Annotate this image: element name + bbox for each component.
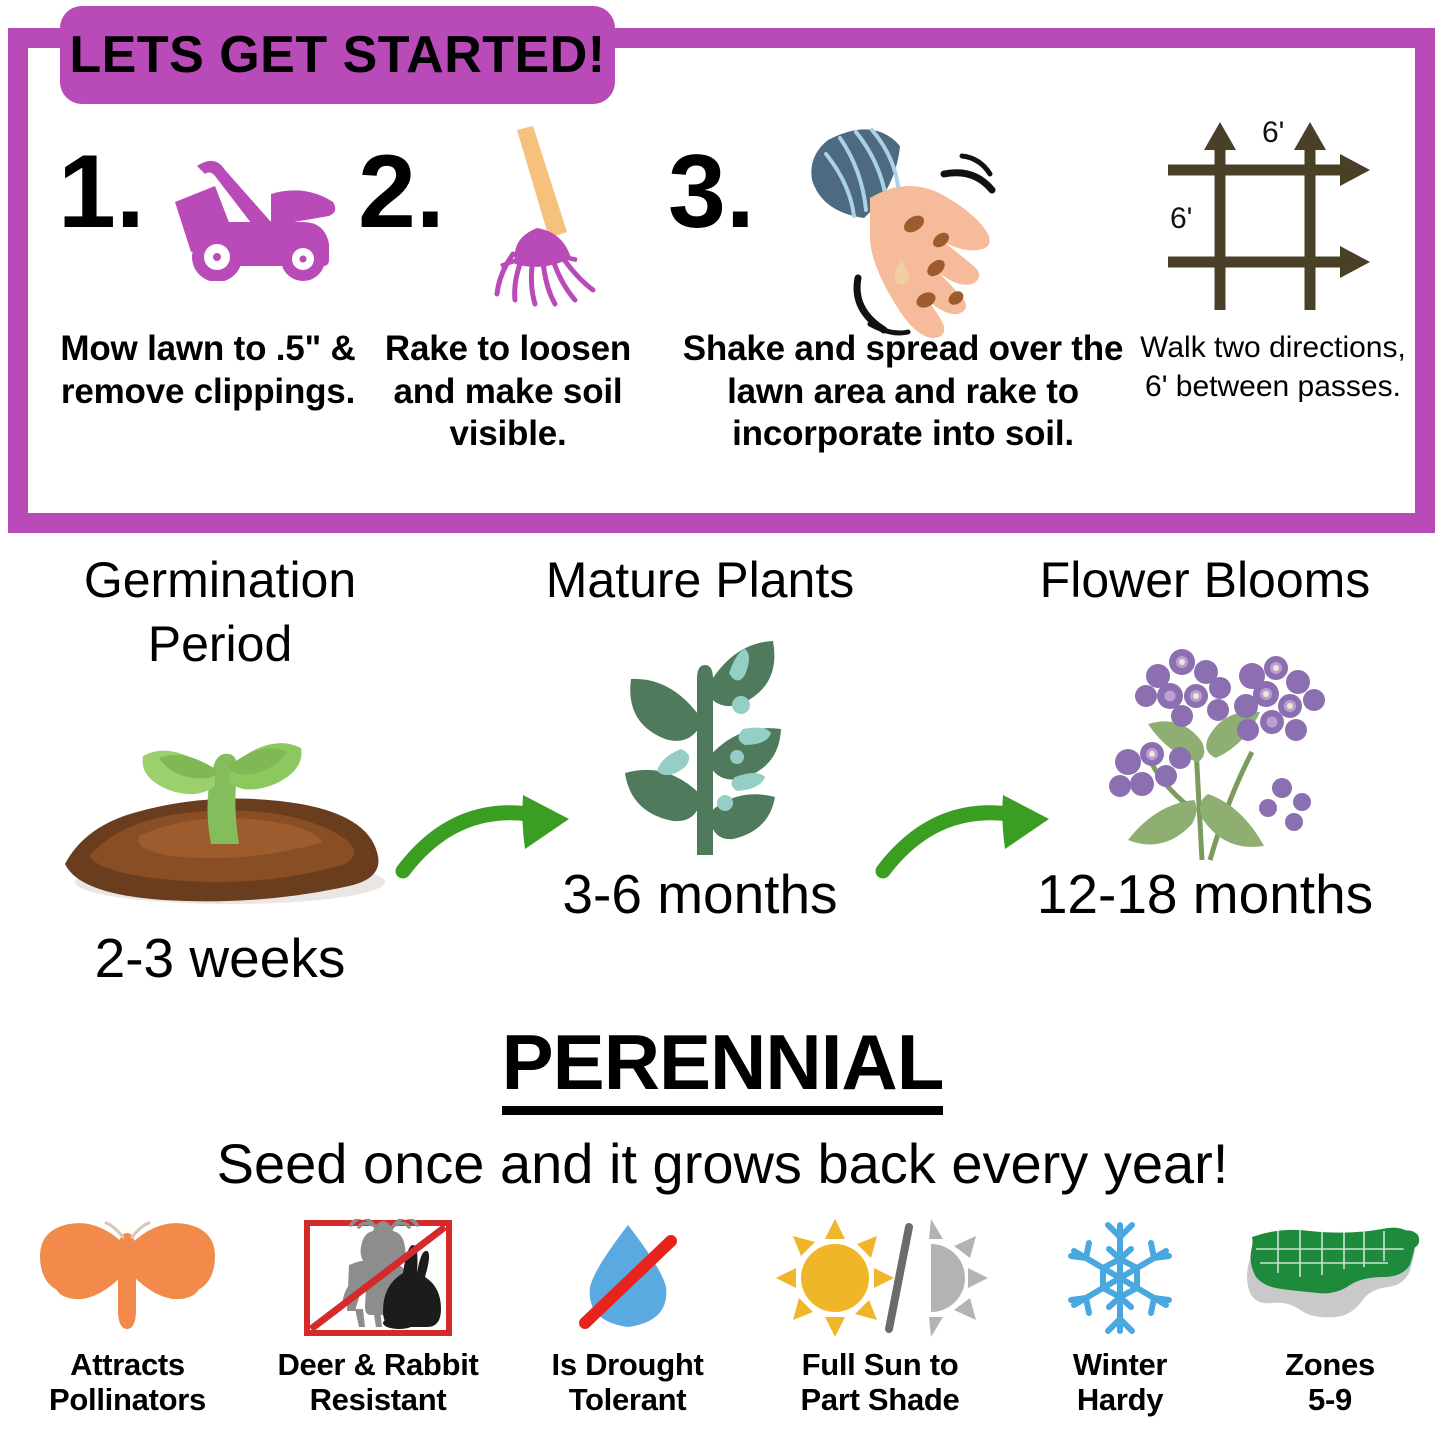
- feature-0-label: Attracts Pollinators: [10, 1347, 245, 1418]
- walk-pattern-text: Walk two directions, 6' between passes.: [1138, 328, 1408, 406]
- feature-1-label: Deer & Rabbit Resistant: [253, 1347, 503, 1418]
- stage-3-duration: 12-18 months: [975, 862, 1435, 926]
- sun-part-shade-icon: [755, 1212, 1005, 1337]
- step-3: 3.: [668, 118, 1138, 456]
- feature-3-label: Full Sun to Part Shade: [755, 1347, 1005, 1418]
- walk-pattern-block: 6' 6' Walk two directions, 6' between pa…: [1138, 110, 1408, 406]
- feature-5-label: Zones 5-9: [1230, 1347, 1430, 1418]
- feature-drought-tolerant: Is Drought Tolerant: [520, 1212, 735, 1418]
- lets-get-started-label: LETS GET STARTED!: [69, 25, 605, 85]
- leafy-plant-icon: [490, 612, 910, 862]
- timeline-stage-bloom: Flower Blooms: [975, 548, 1435, 926]
- feature-2-line1: Is Drought: [552, 1347, 704, 1382]
- no-deer-rabbit-icon: [253, 1212, 503, 1337]
- feature-3-line2: Part Shade: [801, 1382, 960, 1417]
- feature-full-sun-part-shade: Full Sun to Part Shade: [755, 1212, 1005, 1418]
- steps-row: 1.: [28, 118, 1408, 518]
- stage-2-title: Mature Plants: [490, 548, 910, 612]
- perennial-section: PERENNIAL Seed once and it grows back ev…: [0, 1022, 1445, 1194]
- walk-label-top: 6': [1262, 116, 1284, 149]
- step-3-number: 3.: [668, 140, 755, 244]
- feature-2-line2: Tolerant: [569, 1382, 687, 1417]
- lets-get-started-section: LETS GET STARTED! 1.: [0, 0, 1445, 542]
- feature-5-line1: Zones: [1285, 1347, 1375, 1382]
- butterfly-icon: [10, 1212, 245, 1337]
- stage-3-title: Flower Blooms: [975, 548, 1435, 612]
- perennial-subtitle: Seed once and it grows back every year!: [0, 1133, 1445, 1195]
- seedling-in-soil-icon: [10, 676, 430, 926]
- hand-spreading-seed-icon: [786, 102, 1056, 347]
- step-3-header: 3.: [668, 118, 1138, 328]
- step-2-number: 2.: [358, 140, 445, 244]
- feature-4-line1: Winter: [1073, 1347, 1167, 1382]
- perennial-title: PERENNIAL: [502, 1022, 944, 1115]
- usa-map-zones-icon: [1230, 1212, 1430, 1337]
- step-3-caption: Shake and spread over the lawn area and …: [668, 328, 1138, 456]
- feature-4-line2: Hardy: [1077, 1382, 1163, 1417]
- walk-label-left: 6': [1170, 202, 1192, 235]
- step-1: 1.: [58, 118, 358, 413]
- feature-4-label: Winter Hardy: [1020, 1347, 1220, 1418]
- step-2: 2.: [358, 118, 658, 456]
- feature-icons-row: Attracts Pollinators: [0, 1212, 1445, 1445]
- feature-attracts-pollinators: Attracts Pollinators: [10, 1212, 245, 1418]
- feature-0-line1: Attracts: [70, 1347, 185, 1382]
- stage-1-title: Germination Period: [10, 548, 430, 676]
- step-1-number: 1.: [58, 140, 145, 244]
- feature-winter-hardy: Winter Hardy: [1020, 1212, 1220, 1418]
- rake-icon: [463, 124, 603, 329]
- no-water-drop-icon: [520, 1212, 735, 1337]
- feature-zones: Zones 5-9: [1230, 1212, 1430, 1418]
- timeline-stage-germination: Germination Period 2-3 weeks: [10, 548, 430, 990]
- feature-2-label: Is Drought Tolerant: [520, 1347, 735, 1418]
- stage-2-duration: 3-6 months: [490, 862, 910, 926]
- timeline-stage-mature: Mature Plants: [490, 548, 910, 926]
- lets-get-started-badge: LETS GET STARTED!: [60, 6, 615, 104]
- purple-alyssum-flowers-icon: [975, 612, 1435, 862]
- feature-3-line1: Full Sun to: [802, 1347, 959, 1382]
- feature-1-line2: Resistant: [310, 1382, 447, 1417]
- lawn-mower-icon: [153, 156, 338, 286]
- snowflake-icon: [1020, 1212, 1220, 1337]
- stage-1-duration: 2-3 weeks: [10, 926, 430, 990]
- feature-0-line2: Pollinators: [49, 1382, 206, 1417]
- step-2-header: 2.: [358, 118, 658, 328]
- step-1-header: 1.: [58, 118, 358, 328]
- walking-grid-pattern-icon: 6' 6': [1138, 110, 1408, 320]
- feature-1-line1: Deer & Rabbit: [277, 1347, 478, 1382]
- step-2-caption: Rake to loosen and make soil visible.: [358, 328, 658, 456]
- growth-timeline-section: Germination Period 2-3 weeks Mature Plan…: [0, 548, 1445, 1018]
- step-1-caption: Mow lawn to .5" & remove clippings.: [58, 328, 358, 413]
- feature-5-line2: 5-9: [1308, 1382, 1352, 1417]
- feature-deer-rabbit-resistant: Deer & Rabbit Resistant: [253, 1212, 503, 1418]
